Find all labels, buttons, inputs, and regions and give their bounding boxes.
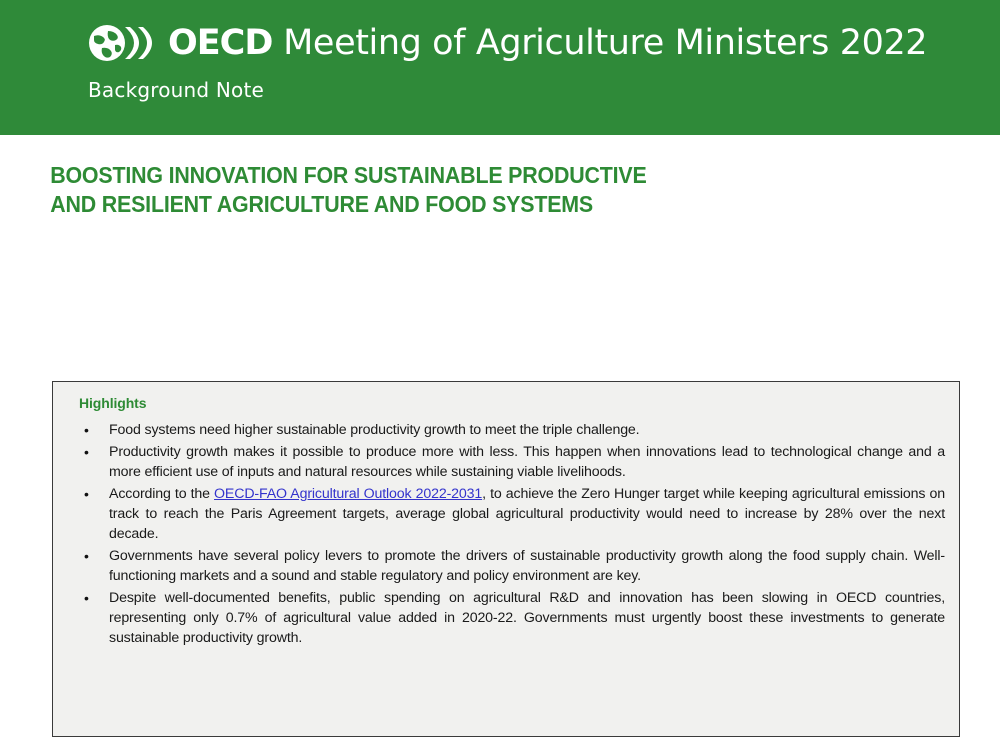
list-item: • Food systems need higher sustainable p… bbox=[67, 420, 945, 440]
bullet-icon: • bbox=[84, 588, 89, 608]
page-header-band: OECD Meeting of Agriculture Ministers 20… bbox=[0, 0, 1000, 135]
list-item-text: Governments have several policy levers t… bbox=[109, 546, 945, 586]
list-item: • Governments have several policy levers… bbox=[67, 546, 945, 586]
highlights-box: Highlights • Food systems need higher su… bbox=[52, 381, 960, 737]
list-item: • Productivity growth makes it possible … bbox=[67, 442, 945, 482]
document-body: BOOSTING INNOVATION FOR SUSTAINABLE PROD… bbox=[0, 135, 1000, 218]
list-item: • Despite well-documented benefits, publ… bbox=[67, 588, 945, 648]
header-title-row: OECD Meeting of Agriculture Ministers 20… bbox=[88, 20, 970, 66]
highlights-list: • Food systems need higher sustainable p… bbox=[67, 420, 945, 648]
list-item: • According to the OECD-FAO Agricultural… bbox=[67, 484, 945, 544]
oecd-globe-chevron-logo-icon bbox=[88, 23, 166, 63]
bullet-icon: • bbox=[84, 420, 89, 440]
bullet-icon: • bbox=[84, 484, 89, 504]
list-item-text: According to the OECD-FAO Agricultural O… bbox=[109, 484, 945, 544]
page-title-rest: Meeting of Agriculture Ministers 2022 bbox=[272, 23, 927, 63]
page-title: OECD Meeting of Agriculture Ministers 20… bbox=[168, 23, 927, 63]
document-heading: BOOSTING INNOVATION FOR SUSTAINABLE PROD… bbox=[0, 135, 930, 218]
page-subtitle: Background Note bbox=[88, 78, 970, 102]
oecd-wordmark: OECD bbox=[168, 23, 272, 63]
header-content: OECD Meeting of Agriculture Ministers 20… bbox=[88, 20, 970, 102]
list-item-text: Productivity growth makes it possible to… bbox=[109, 442, 945, 482]
bullet-icon: • bbox=[84, 546, 89, 566]
bullet-icon: • bbox=[84, 442, 89, 462]
highlights-title: Highlights bbox=[79, 395, 945, 412]
oecd-fao-outlook-link[interactable]: OECD-FAO Agricultural Outlook 2022-2031 bbox=[214, 486, 482, 502]
list-item-text: Food systems need higher sustainable pro… bbox=[109, 420, 945, 440]
list-item-text: Despite well-documented benefits, public… bbox=[109, 588, 945, 648]
list-item-text-prefix: According to the bbox=[109, 486, 214, 502]
